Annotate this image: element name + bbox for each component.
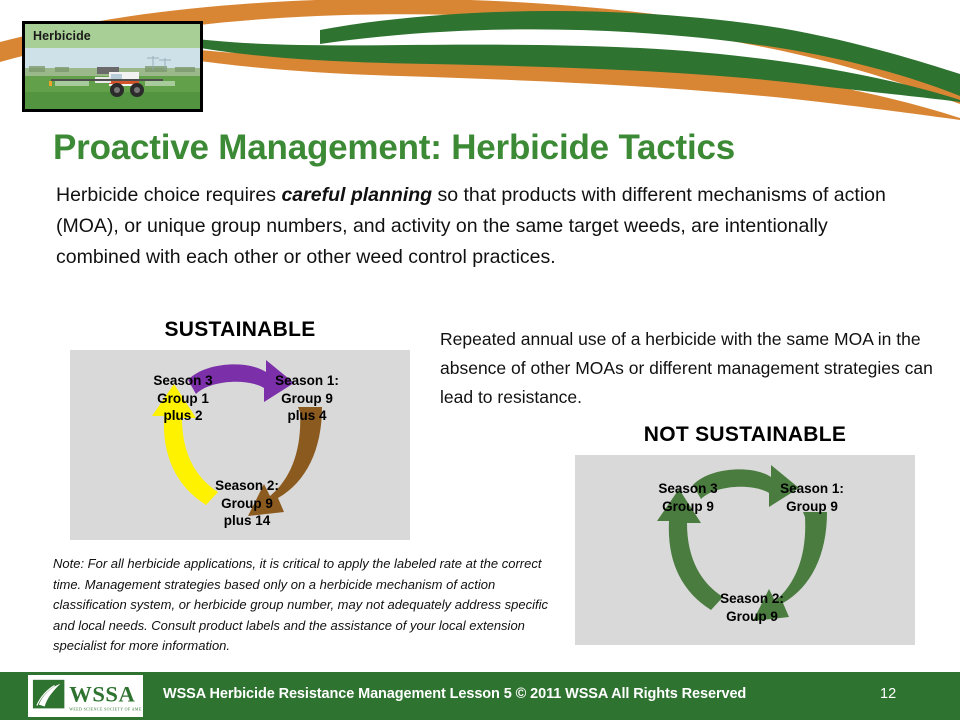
node-line-3: plus 2 [128,407,238,425]
wssa-logo: WSSA WEED SCIENCE SOCIETY OF AMERICA [28,675,143,717]
sustainable-node-season1: Season 1: Group 9 plus 4 [252,372,362,425]
resistance-paragraph: Repeated annual use of a herbicide with … [440,325,940,412]
node-line-2: Group 9 [757,498,867,516]
node-line-1: Season 3 [633,480,743,498]
sustainable-node-season2: Season 2: Group 9 plus 14 [192,477,302,530]
node-line-1: Season 1: [252,372,362,390]
node-line-1: Season 3 [128,372,238,390]
node-line-1: Season 2: [192,477,302,495]
node-line-3: plus 14 [192,512,302,530]
sustainable-node-season3: Season 3 Group 1 plus 2 [128,372,238,425]
page-title: Proactive Management: Herbicide Tactics [53,128,933,168]
intro-emphasis: careful planning [281,184,432,206]
thumbnail-caption-bar: Herbicide [25,24,200,48]
node-line-2: Group 9 [192,495,302,513]
not-sustainable-diagram-panel: Season 3 Group 9 Season 1: Group 9 Seaso… [575,455,915,645]
node-line-2: Group 9 [697,608,807,626]
sustainable-heading: SUSTAINABLE [70,318,410,342]
node-line-2: Group 9 [252,390,362,408]
node-line-3: plus 4 [252,407,362,425]
herbicide-thumbnail: Herbicide [22,21,203,112]
svg-text:WSSA: WSSA [69,682,135,707]
not-sustainable-node-season3: Season 3 Group 9 [633,480,743,515]
node-line-2: Group 9 [633,498,743,516]
node-line-2: Group 1 [128,390,238,408]
footnote-text: Note: For all herbicide applications, it… [53,554,558,657]
not-sustainable-heading: NOT SUSTAINABLE [575,423,915,447]
sprayer-field-photo [25,48,200,109]
footer-copyright-text: WSSA Herbicide Resistance Management Les… [163,686,803,702]
wssa-logo-graphic: WSSA WEED SCIENCE SOCIETY OF AMERICA [29,676,142,716]
sustainable-diagram-panel: Season 3 Group 1 plus 2 Season 1: Group … [70,350,410,540]
slide: Herbicide Proactive Management: Herbicid… [0,0,960,720]
not-sustainable-node-season2: Season 2: Group 9 [697,590,807,625]
thumbnail-caption-label: Herbicide [25,29,91,43]
node-line-1: Season 1: [757,480,867,498]
page-number: 12 [880,686,920,702]
svg-text:WEED SCIENCE SOCIETY OF AMERIC: WEED SCIENCE SOCIETY OF AMERICA [69,706,142,711]
node-line-1: Season 2: [697,590,807,608]
intro-paragraph: Herbicide choice requires careful planni… [56,180,896,273]
not-sustainable-node-season1: Season 1: Group 9 [757,480,867,515]
intro-part1: Herbicide choice requires [56,184,281,206]
